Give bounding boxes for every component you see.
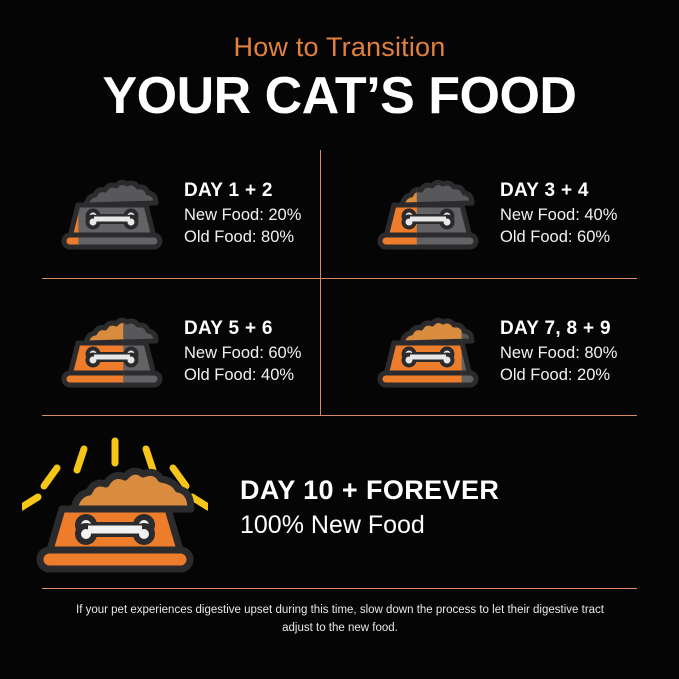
- step-text-4: DAY 7, 8 + 9 New Food: 80% Old Food: 20%: [492, 318, 617, 387]
- step-new-food: New Food: 40%: [500, 205, 617, 227]
- transition-steps-grid: DAY 1 + 2 New Food: 20% Old Food: 80%: [0, 150, 679, 416]
- page-title: YOUR CAT’S FOOD: [0, 70, 679, 123]
- step-old-food: Old Food: 80%: [184, 227, 301, 249]
- step-card-3: DAY 5 + 6 New Food: 60% Old Food: 40%: [0, 288, 339, 416]
- step-text-2: DAY 3 + 4 New Food: 40% Old Food: 60%: [492, 180, 617, 249]
- step-day-label: DAY 3 + 4: [500, 180, 617, 202]
- step-day-label: DAY 5 + 6: [184, 318, 301, 340]
- final-step-section: DAY 10 + FOREVER 100% New Food: [0, 432, 679, 582]
- step-card-2: DAY 3 + 4 New Food: 40% Old Food: 60%: [339, 150, 678, 278]
- step-card-1: DAY 1 + 2 New Food: 20% Old Food: 80%: [0, 150, 339, 278]
- footer-note: If your pet experiences digestive upset …: [60, 602, 620, 638]
- step-new-food: New Food: 60%: [184, 343, 301, 365]
- step-old-food: Old Food: 20%: [500, 365, 617, 387]
- step-card-4: DAY 7, 8 + 9 New Food: 80% Old Food: 20%: [339, 288, 678, 416]
- step-day-label: DAY 7, 8 + 9: [500, 318, 617, 340]
- cat-food-bowl-icon: [364, 313, 492, 391]
- step-old-food: Old Food: 40%: [184, 365, 301, 387]
- page-subtitle: How to Transition: [0, 34, 679, 61]
- divider-footer: [42, 588, 637, 589]
- cat-food-bowl-icon: [48, 313, 176, 391]
- cat-food-bowl-shining-icon: [0, 437, 230, 577]
- cat-food-bowl-icon: [364, 175, 492, 253]
- header: How to Transition YOUR CAT’S FOOD: [0, 0, 679, 123]
- steps-row-1: DAY 1 + 2 New Food: 20% Old Food: 80%: [0, 150, 679, 278]
- step-new-food: New Food: 80%: [500, 343, 617, 365]
- step-new-food: New Food: 20%: [184, 205, 301, 227]
- final-day-label: DAY 10 + FOREVER: [240, 475, 499, 506]
- final-step-text: DAY 10 + FOREVER 100% New Food: [230, 475, 499, 540]
- step-old-food: Old Food: 60%: [500, 227, 617, 249]
- step-day-label: DAY 1 + 2: [184, 180, 301, 202]
- infographic-root: How to Transition YOUR CAT’S FOOD: [0, 0, 679, 679]
- final-food-label: 100% New Food: [240, 511, 499, 540]
- step-text-1: DAY 1 + 2 New Food: 20% Old Food: 80%: [176, 180, 301, 249]
- steps-row-2: DAY 5 + 6 New Food: 60% Old Food: 40%: [0, 288, 679, 416]
- cat-food-bowl-icon: [48, 175, 176, 253]
- step-text-3: DAY 5 + 6 New Food: 60% Old Food: 40%: [176, 318, 301, 387]
